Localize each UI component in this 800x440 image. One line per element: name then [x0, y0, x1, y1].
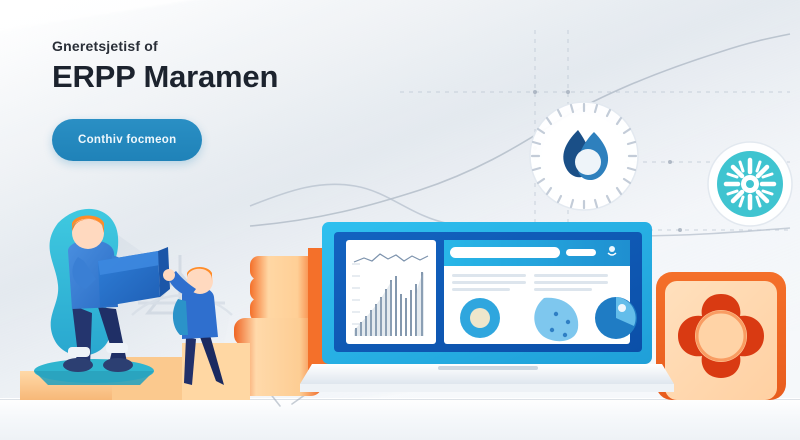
page-title: ERPP Maramen	[52, 60, 352, 93]
gear-badge-icon	[528, 100, 640, 212]
laptop-notch	[438, 366, 538, 370]
hero-banner: Gneretsjetisf of ERPP Maramen Conthiv fo…	[0, 0, 800, 440]
pie-widget	[595, 297, 637, 339]
laptop-dashboard	[318, 218, 656, 400]
pill-button	[566, 249, 596, 256]
copy-block: Gneretsjetisf of ERPP Maramen Conthiv fo…	[52, 38, 352, 161]
cta-button[interactable]: Conthiv focmeon	[52, 119, 202, 161]
flower-ring-tile	[656, 272, 786, 400]
eyebrow-text: Gneretsjetisf of	[52, 38, 352, 54]
teal-gear-badge	[706, 140, 794, 228]
workers-illustration	[20, 185, 250, 400]
teal-gear-icon	[726, 160, 774, 208]
background-ground	[0, 398, 800, 440]
status-dot	[609, 246, 615, 252]
search-bar	[450, 247, 560, 258]
coin-column-upper	[250, 256, 316, 322]
donut-widget	[460, 298, 500, 338]
